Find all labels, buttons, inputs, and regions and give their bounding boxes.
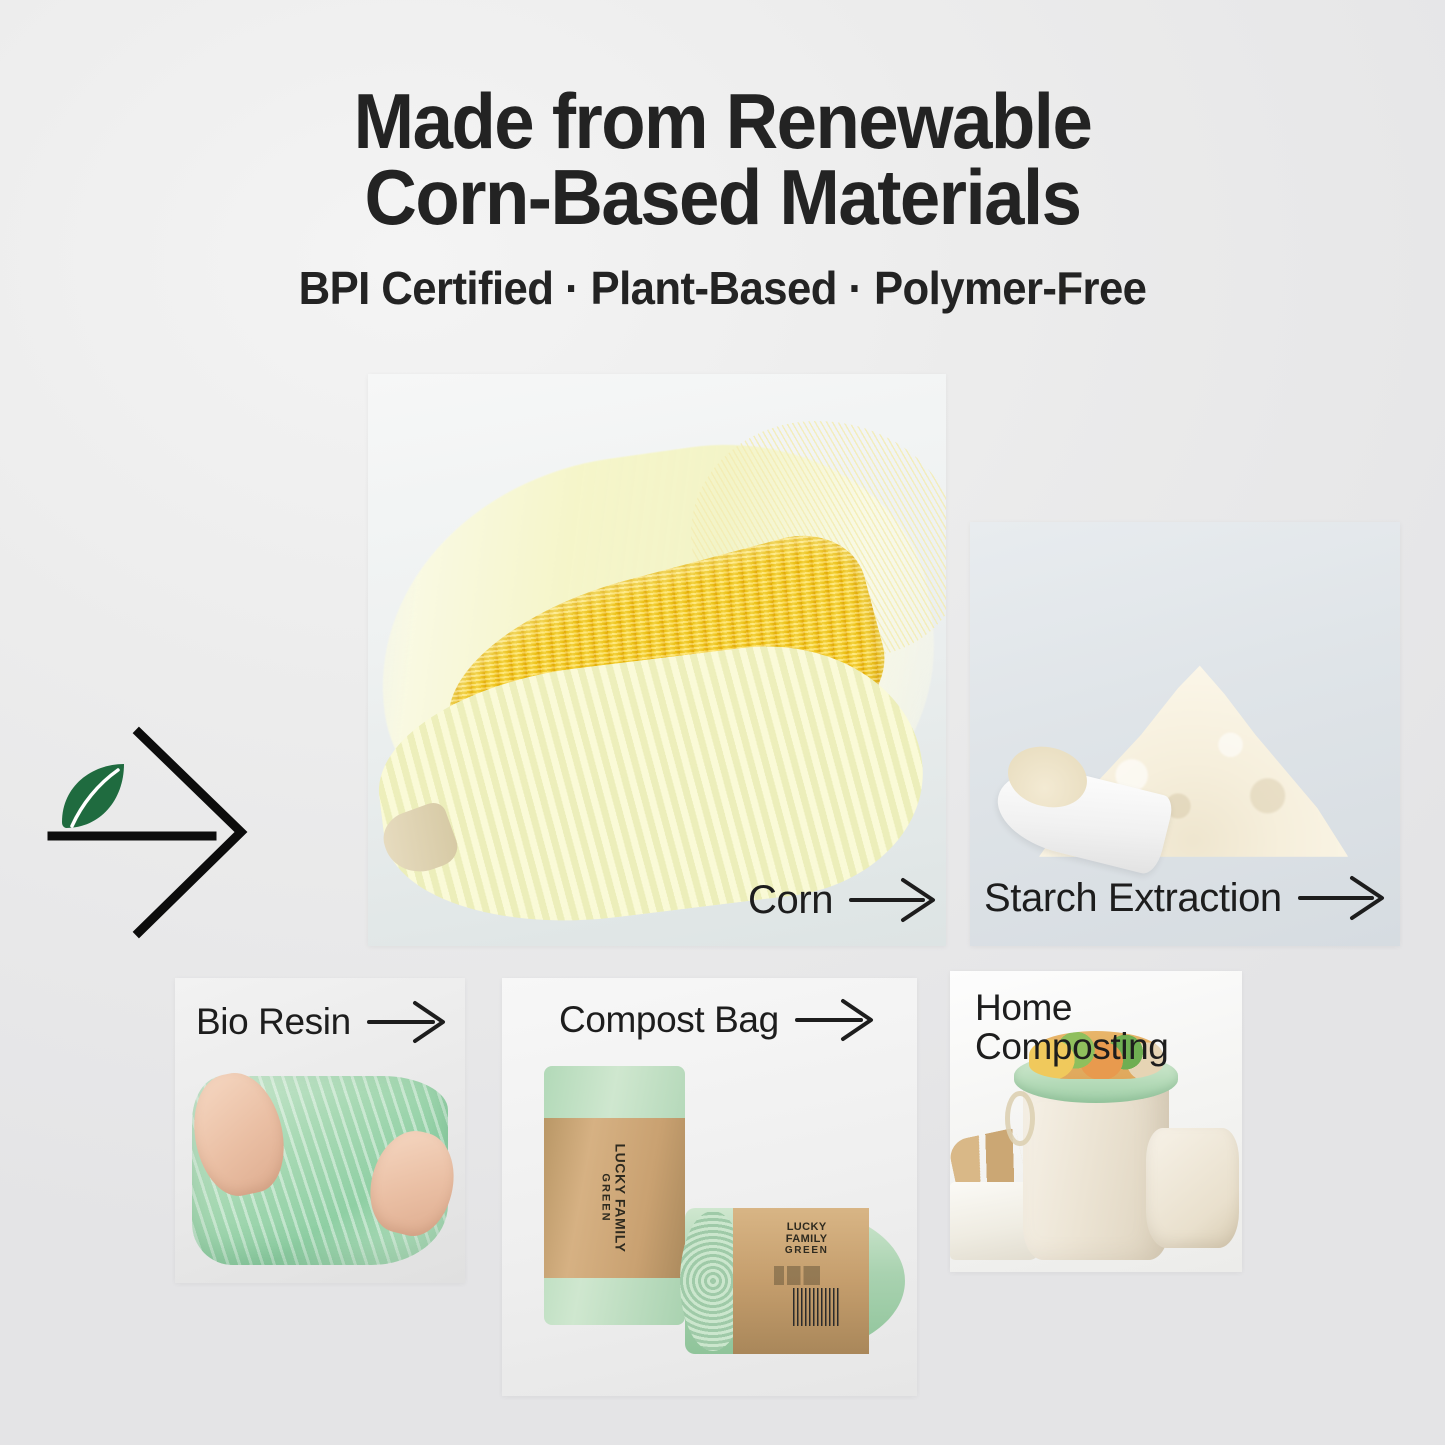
entry-arrow-group: [44, 724, 314, 940]
arrow-right-icon: [793, 998, 877, 1042]
step-label-corn-text: Corn: [748, 879, 833, 921]
leaf-icon: [62, 764, 124, 828]
compost-bag-roll-lying: LUCKY FAMILY GREEN: [685, 1208, 905, 1354]
step-label-bioresin-text: Bio Resin: [196, 1002, 351, 1041]
chevron-right-arrow-icon: [52, 733, 241, 932]
arrow-right-icon: [847, 877, 939, 923]
compost-bin-lid: [1146, 1128, 1239, 1248]
rope-handle: [1005, 1091, 1034, 1145]
step-label-homecomposting: Home Composting: [975, 988, 1168, 1066]
brand-name-line2-lying: GREEN: [768, 1245, 844, 1256]
arrow-right-icon: [365, 1000, 449, 1044]
page-title: Made from Renewable Corn-Based Materials: [51, 84, 1395, 235]
certification-marks: [774, 1266, 820, 1285]
brand-name-line1: LUCKY FAMILY: [613, 1143, 629, 1252]
barcode: [793, 1288, 839, 1326]
step-label-compostbag: Compost Bag: [559, 998, 877, 1042]
step-label-homecomposting-text: Home Composting: [975, 988, 1168, 1066]
brand-name-line1-lying: LUCKY FAMILY: [786, 1221, 828, 1245]
kraft-label-lying: LUCKY FAMILY GREEN: [733, 1208, 869, 1354]
kraft-label-standing: LUCKY FAMILY GREEN: [544, 1118, 685, 1279]
brand-name-line2: GREEN: [600, 1143, 612, 1252]
compost-bag-roll-standing: LUCKY FAMILY GREEN: [544, 1066, 685, 1325]
step-image-corn: [368, 374, 946, 946]
brand-label-lying: LUCKY FAMILY GREEN: [768, 1221, 844, 1256]
infographic-canvas: Made from Renewable Corn-Based Materials…: [0, 0, 1445, 1445]
arrow-right-icon: [1296, 875, 1388, 921]
step-label-bioresin: Bio Resin: [196, 1000, 449, 1044]
step-label-corn: Corn: [748, 877, 939, 923]
step-label-compostbag-text: Compost Bag: [559, 1000, 779, 1039]
step-label-starch-text: Starch Extraction: [984, 877, 1282, 919]
brand-label-standing: LUCKY FAMILY GREEN: [600, 1143, 629, 1252]
page-subtitle: BPI Certified · Plant-Based · Polymer-Fr…: [36, 261, 1409, 315]
step-label-starch: Starch Extraction: [984, 875, 1388, 921]
header: Made from Renewable Corn-Based Materials…: [0, 84, 1445, 315]
